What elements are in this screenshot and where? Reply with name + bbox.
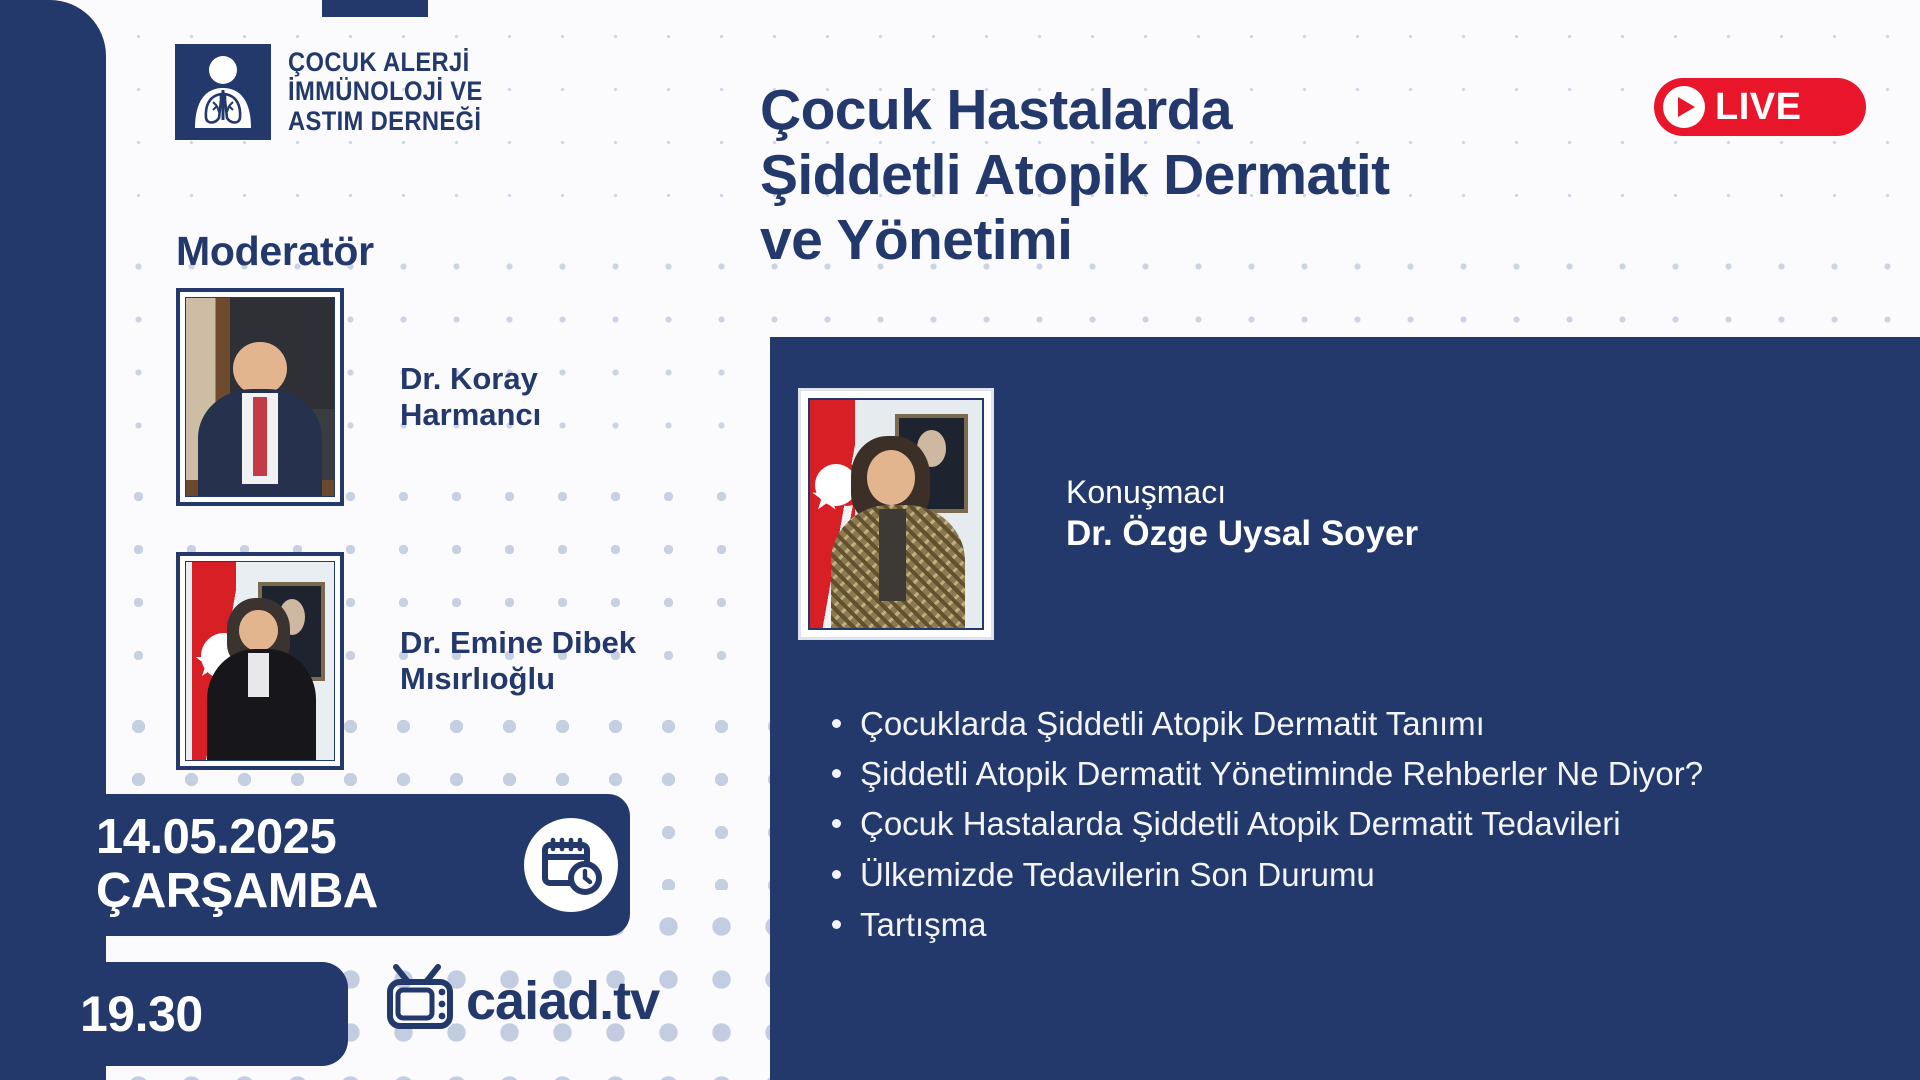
moderator-1: Dr. Koray Harmancı bbox=[176, 288, 541, 506]
list-item: Şiddetli Atopik Dermatit Yönetiminde Reh… bbox=[820, 752, 1880, 796]
torso-lungs-icon bbox=[175, 44, 271, 140]
tv-icon bbox=[382, 962, 458, 1039]
list-item: Çocuk Hastalarda Şiddetli Atopik Dermati… bbox=[820, 802, 1880, 846]
speaker-block: Konuşmacı Dr. Özge Uysal Soyer bbox=[798, 388, 1418, 640]
time-block: 19.30 bbox=[0, 962, 348, 1066]
event-date: 14.05.2025 ÇARŞAMBA bbox=[96, 811, 378, 919]
list-item: Çocuklarda Şiddetli Atopik Dermatit Tanı… bbox=[820, 702, 1880, 746]
moderator-2-name: Dr. Emine Dibek Mısırlıoğlu bbox=[400, 625, 636, 697]
top-accent-tab bbox=[322, 0, 428, 17]
speaker-role: Konuşmacı bbox=[1066, 472, 1418, 512]
date-block: 14.05.2025 ÇARŞAMBA bbox=[64, 794, 630, 936]
moderator-1-photo-frame bbox=[176, 288, 344, 506]
moderator-1-avatar bbox=[185, 297, 335, 497]
live-badge[interactable]: LIVE bbox=[1654, 78, 1866, 136]
list-item: Tartışma bbox=[820, 903, 1880, 947]
moderator-1-name: Dr. Koray Harmancı bbox=[400, 361, 541, 433]
moderator-2-photo-frame bbox=[176, 552, 344, 770]
speaker-photo-frame bbox=[798, 388, 994, 640]
event-time: 19.30 bbox=[80, 985, 203, 1043]
channel-block[interactable]: caiad.tv bbox=[382, 962, 659, 1039]
play-icon bbox=[1663, 86, 1705, 128]
live-label: LIVE bbox=[1715, 86, 1801, 129]
organization-logo: ÇOCUK ALERJİ İMMÜNOLOJİ VE ASTIM DERNEĞİ bbox=[175, 44, 509, 140]
speaker-name: Dr. Özge Uysal Soyer bbox=[1066, 512, 1418, 556]
moderator-2: Dr. Emine Dibek Mısırlıoğlu bbox=[176, 552, 636, 770]
organization-name: ÇOCUK ALERJİ İMMÜNOLOJİ VE ASTIM DERNEĞİ bbox=[288, 48, 483, 135]
speaker-avatar bbox=[808, 398, 984, 630]
list-item: Ülkemizde Tedavilerin Son Durumu bbox=[820, 853, 1880, 897]
page-title: Çocuk Hastalarda Şiddetli Atopik Dermati… bbox=[760, 78, 1660, 273]
moderator-heading: Moderatör bbox=[176, 228, 374, 275]
calendar-clock-icon bbox=[524, 818, 618, 912]
topic-list: Çocuklarda Şiddetli Atopik Dermatit Tanı… bbox=[820, 702, 1880, 953]
webinar-poster: ÇOCUK ALERJİ İMMÜNOLOJİ VE ASTIM DERNEĞİ… bbox=[0, 0, 1920, 1080]
moderator-2-avatar bbox=[185, 561, 335, 761]
channel-url[interactable]: caiad.tv bbox=[466, 970, 659, 1032]
